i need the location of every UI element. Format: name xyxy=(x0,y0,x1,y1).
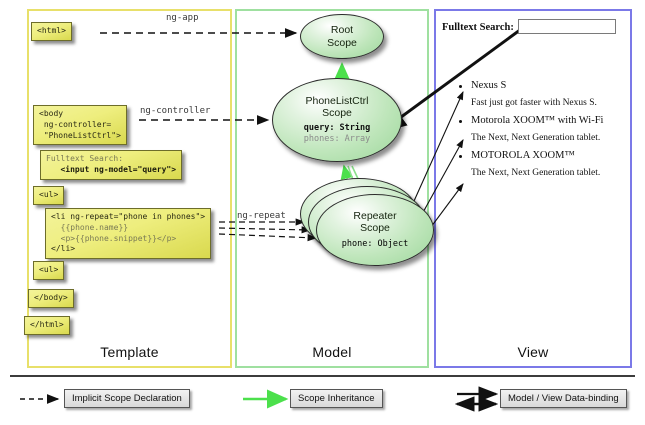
diagram-canvas: Template Model View xyxy=(0,0,645,425)
code-box-body-close: </body> xyxy=(28,289,74,308)
phone-name: MOTOROLA XOOM™ xyxy=(455,150,623,161)
legend-separator xyxy=(10,375,635,377)
phone-snippet: Fast just got faster with Nexus S. xyxy=(455,98,623,108)
scope-ctrl-prop-query: query: String xyxy=(304,123,371,134)
panel-model-label: Model xyxy=(237,344,427,360)
code-search-label: Fulltext Search: xyxy=(46,154,123,163)
code-box-ul-close: <ul> xyxy=(33,261,64,280)
panel-view: View xyxy=(434,9,632,368)
scope-repeater-line2: Scope xyxy=(360,222,390,234)
scope-root-line2: Scope xyxy=(327,37,357,49)
phone-snippet: The Next, Next Generation tablet. xyxy=(455,168,623,178)
code-box-html-close: </html> xyxy=(24,316,70,335)
code-search-input: <input ng-model="query"> xyxy=(60,165,176,174)
code-box-body-open: <body ng-controller= "PhoneListCtrl"> xyxy=(33,105,127,145)
legend-item-implicit-scope-declaration: Implicit Scope Declaration xyxy=(64,389,190,408)
list-item[interactable]: Nexus S Fast just got faster with Nexus … xyxy=(455,80,623,108)
legend-item-model-view-data-binding: Model / View Data-binding xyxy=(500,389,627,408)
list-item[interactable]: Motorola XOOM™ with Wi-Fi The Next, Next… xyxy=(455,115,623,143)
code-li-line1: <li ng-repeat="phone in phones"> xyxy=(51,212,205,221)
phone-name: Motorola XOOM™ with Wi-Fi xyxy=(455,115,623,126)
code-li-line2: {{phone.name}} xyxy=(61,223,128,232)
code-li-line3: <p>{{phone.snippet}}</p> xyxy=(61,234,177,243)
code-box-search: Fulltext Search: <input ng-model="query"… xyxy=(40,150,182,180)
phone-snippet: The Next, Next Generation tablet. xyxy=(455,133,623,143)
scope-root: Root Scope xyxy=(300,14,384,59)
phone-list: Nexus S Fast just got faster with Nexus … xyxy=(455,80,623,185)
label-ng-app: ng-app xyxy=(166,13,199,23)
code-li-line4: </li> xyxy=(51,244,75,253)
scope-ctrl-line1: PhoneListCtrl xyxy=(305,95,368,107)
code-box-ul-open: <ul> xyxy=(33,186,64,205)
scope-repeater: Repeater Scope phone: Object xyxy=(316,194,434,266)
scope-ctrl-props: query: String phones: Array xyxy=(304,123,371,145)
view-search-label: Fulltext Search: xyxy=(442,22,514,33)
label-ng-controller: ng-controller xyxy=(140,106,210,116)
list-item[interactable]: MOTOROLA XOOM™ The Next, Next Generation… xyxy=(455,150,623,178)
scope-ctrl-prop-phones: phones: Array xyxy=(304,134,371,145)
search-input[interactable] xyxy=(518,19,616,34)
code-box-html-open: <html> xyxy=(31,22,72,41)
legend-item-scope-inheritance: Scope Inheritance xyxy=(290,389,383,408)
phone-name: Nexus S xyxy=(455,80,623,91)
scope-ctrl-line2: Scope xyxy=(322,107,352,119)
panel-template-label: Template xyxy=(29,344,230,360)
scope-repeater-prop-phone: phone: Object xyxy=(342,239,409,250)
scope-phonelistctrl: PhoneListCtrl Scope query: String phones… xyxy=(272,78,402,162)
code-box-li: <li ng-repeat="phone in phones"> {{phone… xyxy=(45,208,211,259)
scope-root-line1: Root xyxy=(331,24,353,36)
scope-repeater-line1: Repeater xyxy=(353,210,396,222)
label-ng-repeat: ng-repeat xyxy=(237,211,286,221)
panel-view-label: View xyxy=(436,344,630,360)
